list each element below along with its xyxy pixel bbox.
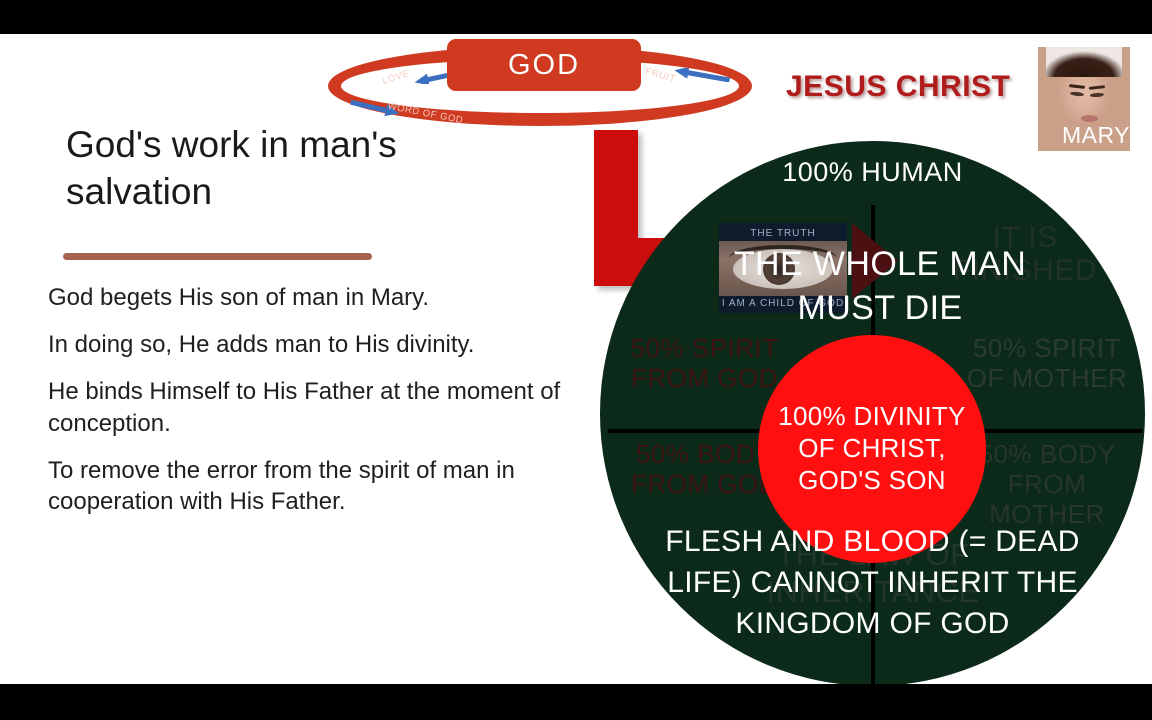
- slide-canvas: LOVE FRUIT WORD OF GOD GOD God's work in…: [0, 34, 1152, 684]
- letterbox-top: [0, 0, 1152, 34]
- quadrant-divider-left: [608, 429, 768, 433]
- list-item: He binds Himself to His Father at the mo…: [48, 376, 588, 438]
- fruit-arrow-icon: [670, 68, 732, 82]
- page-title: God's work in man's salvation: [66, 121, 466, 216]
- overlay-flesh-and-blood: FLESH AND BLOOD (= DEAD LIFE) CANNOT INH…: [630, 521, 1115, 644]
- eye-caption-top: THE TRUTH: [719, 228, 847, 239]
- god-banner-label: GOD: [508, 49, 580, 82]
- divinity-core-text: 100% DIVINITY OF CHRIST, GOD'S SON: [758, 401, 986, 496]
- list-item: God begets His son of man in Mary.: [48, 282, 588, 313]
- circle-clip: IT IS FINISHED THE LAW OF INHERITANCE 50…: [600, 141, 1145, 684]
- mary-photo: MARY: [1038, 47, 1130, 151]
- overlay-whole-man-must-die: THE WHOLE MAN MUST DIE: [680, 243, 1080, 330]
- letterbox-bottom: [0, 684, 1152, 720]
- slide-stage: LOVE FRUIT WORD OF GOD GOD God's work in…: [0, 0, 1152, 720]
- circle-top-label: 100% HUMAN: [600, 157, 1145, 188]
- mary-hair: [1046, 47, 1122, 77]
- quadrant-label-top-left: 50% SPIRIT FROM GOD: [612, 333, 797, 393]
- quadrant-divider-right: [982, 429, 1142, 433]
- mary-label: MARY: [1041, 122, 1130, 149]
- god-banner: GOD: [447, 39, 641, 91]
- quadrant-label-top-right: 50% SPIRIT OF MOTHER: [952, 333, 1142, 393]
- list-item: To remove the error from the spirit of m…: [48, 455, 588, 517]
- mary-lips: [1081, 115, 1098, 122]
- jesus-christ-heading: JESUS CHRIST: [786, 70, 1010, 104]
- list-item: In doing so, He adds man to His divinity…: [48, 329, 588, 360]
- bullet-list: God begets His son of man in Mary. In do…: [48, 282, 588, 533]
- jesus-christ-diagram-circle: IT IS FINISHED THE LAW OF INHERITANCE 50…: [600, 141, 1145, 684]
- title-divider: [63, 253, 372, 260]
